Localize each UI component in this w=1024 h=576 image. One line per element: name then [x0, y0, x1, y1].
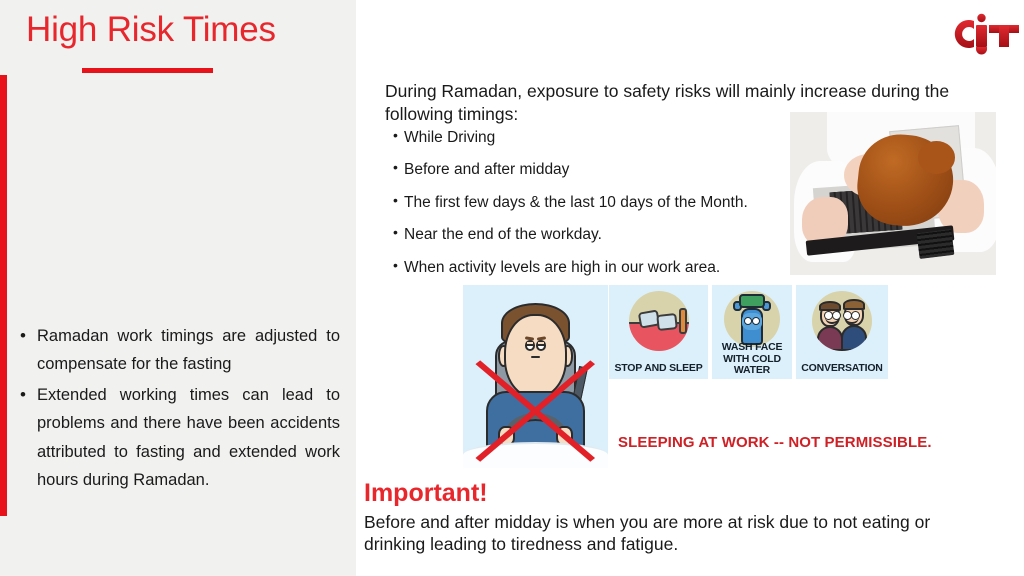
page-title: High Risk Times: [26, 10, 346, 50]
timing-text-4: When activity levels are high in our wor…: [404, 259, 720, 276]
list-item: While Driving: [393, 127, 773, 148]
timing-text-2: The first few days & the last 10 days of…: [404, 194, 748, 211]
water-splash-icon: [724, 291, 780, 347]
list-item: Near the end of the workday.: [393, 224, 773, 245]
timing-list: While Driving Before and after midday Th…: [393, 127, 773, 289]
list-item: The first few days & the last 10 days of…: [393, 192, 773, 213]
list-item: Before and after midday: [393, 159, 773, 180]
title-underline: [82, 68, 213, 73]
tile-caption: CONVERSATION: [796, 363, 888, 375]
timing-text-3: Near the end of the workday.: [404, 226, 602, 243]
two-people-talking-icon: [812, 291, 872, 351]
important-heading: Important!: [364, 479, 488, 508]
tile-caption: WASH FACE WITH COLD WATER: [712, 342, 792, 377]
left-accent-bar: [0, 75, 7, 516]
wash-face-tile: WASH FACE WITH COLD WATER: [712, 285, 792, 379]
conversation-tile: CONVERSATION: [796, 285, 888, 379]
closing-paragraph: Before and after midday is when you are …: [364, 511, 954, 555]
tile-caption: STOP AND SLEEP: [609, 363, 708, 375]
list-item: Ramadan work timings are adjusted to com…: [18, 322, 340, 379]
timing-text-1: Before and after midday: [404, 161, 569, 178]
bed-icon: [629, 291, 689, 351]
red-cross-out-icon: [470, 358, 601, 464]
left-bullet-list: Ramadan work timings are adjusted to com…: [18, 322, 340, 496]
sleeping-at-desk-photo: [790, 112, 996, 275]
drowsy-driver-tile: [463, 285, 608, 468]
left-bullet-text-1: Extended working times can lead to probl…: [37, 386, 340, 489]
slide-root: High Risk Times Ramadan work timings are…: [0, 0, 1024, 576]
list-item: When activity levels are high in our wor…: [393, 257, 773, 278]
stop-and-sleep-tile: STOP AND SLEEP: [609, 285, 708, 379]
list-item: Extended working times can lead to probl…: [18, 381, 340, 495]
sleeping-warning-text: SLEEPING AT WORK -- NOT PERMISSIBLE.: [618, 434, 978, 451]
left-bullet-text-0: Ramadan work timings are adjusted to com…: [37, 327, 340, 373]
timing-text-0: While Driving: [404, 129, 495, 146]
cjt-logo: [944, 9, 1024, 55]
